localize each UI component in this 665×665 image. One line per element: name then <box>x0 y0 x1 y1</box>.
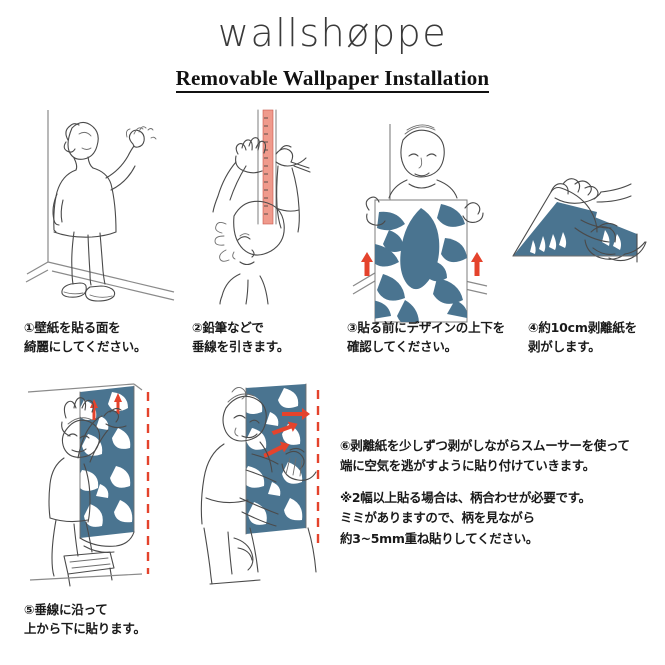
step-4-caption: ④約10cm剥離紙を 剥がします。 <box>528 318 665 357</box>
step-5-caption: ⑤垂線に沿って 上から下に貼ります。 <box>24 600 199 639</box>
step-2-caption: ②鉛筆などで 垂線を引きます。 <box>192 318 352 357</box>
instruction-sheet: wallshøppe Removable Wallpaper Installat… <box>0 0 665 665</box>
pattern-match-note: ※2幅以上貼る場合は、柄合わせが必要です。 ミミがありますので、柄を見ながら 約… <box>340 488 660 549</box>
step-6-caption: ⑥剥離紙を少しずつ剥がしながらスムーサーを使って 端に空気を逃がすように貼り付け… <box>340 436 660 477</box>
step-2-illustration <box>190 104 340 304</box>
brand-logo: wallshøppe <box>0 14 665 52</box>
up-arrow-right <box>471 252 483 276</box>
step-1-illustration <box>22 104 182 304</box>
page-title-text: Removable Wallpaper Installation <box>176 66 490 93</box>
page-title: Removable Wallpaper Installation <box>0 66 665 91</box>
up-arrow-left <box>361 252 373 276</box>
step-5-illustration <box>22 378 187 590</box>
step-1-caption: ①壁紙を貼る面を 綺麗にしてください。 <box>24 318 189 357</box>
step-3-illustration <box>345 104 495 304</box>
step-4-illustration <box>485 178 660 304</box>
step-3-caption: ③貼る前にデザインの上下を 確認してください。 <box>347 318 527 357</box>
step-6-illustration <box>190 378 350 590</box>
